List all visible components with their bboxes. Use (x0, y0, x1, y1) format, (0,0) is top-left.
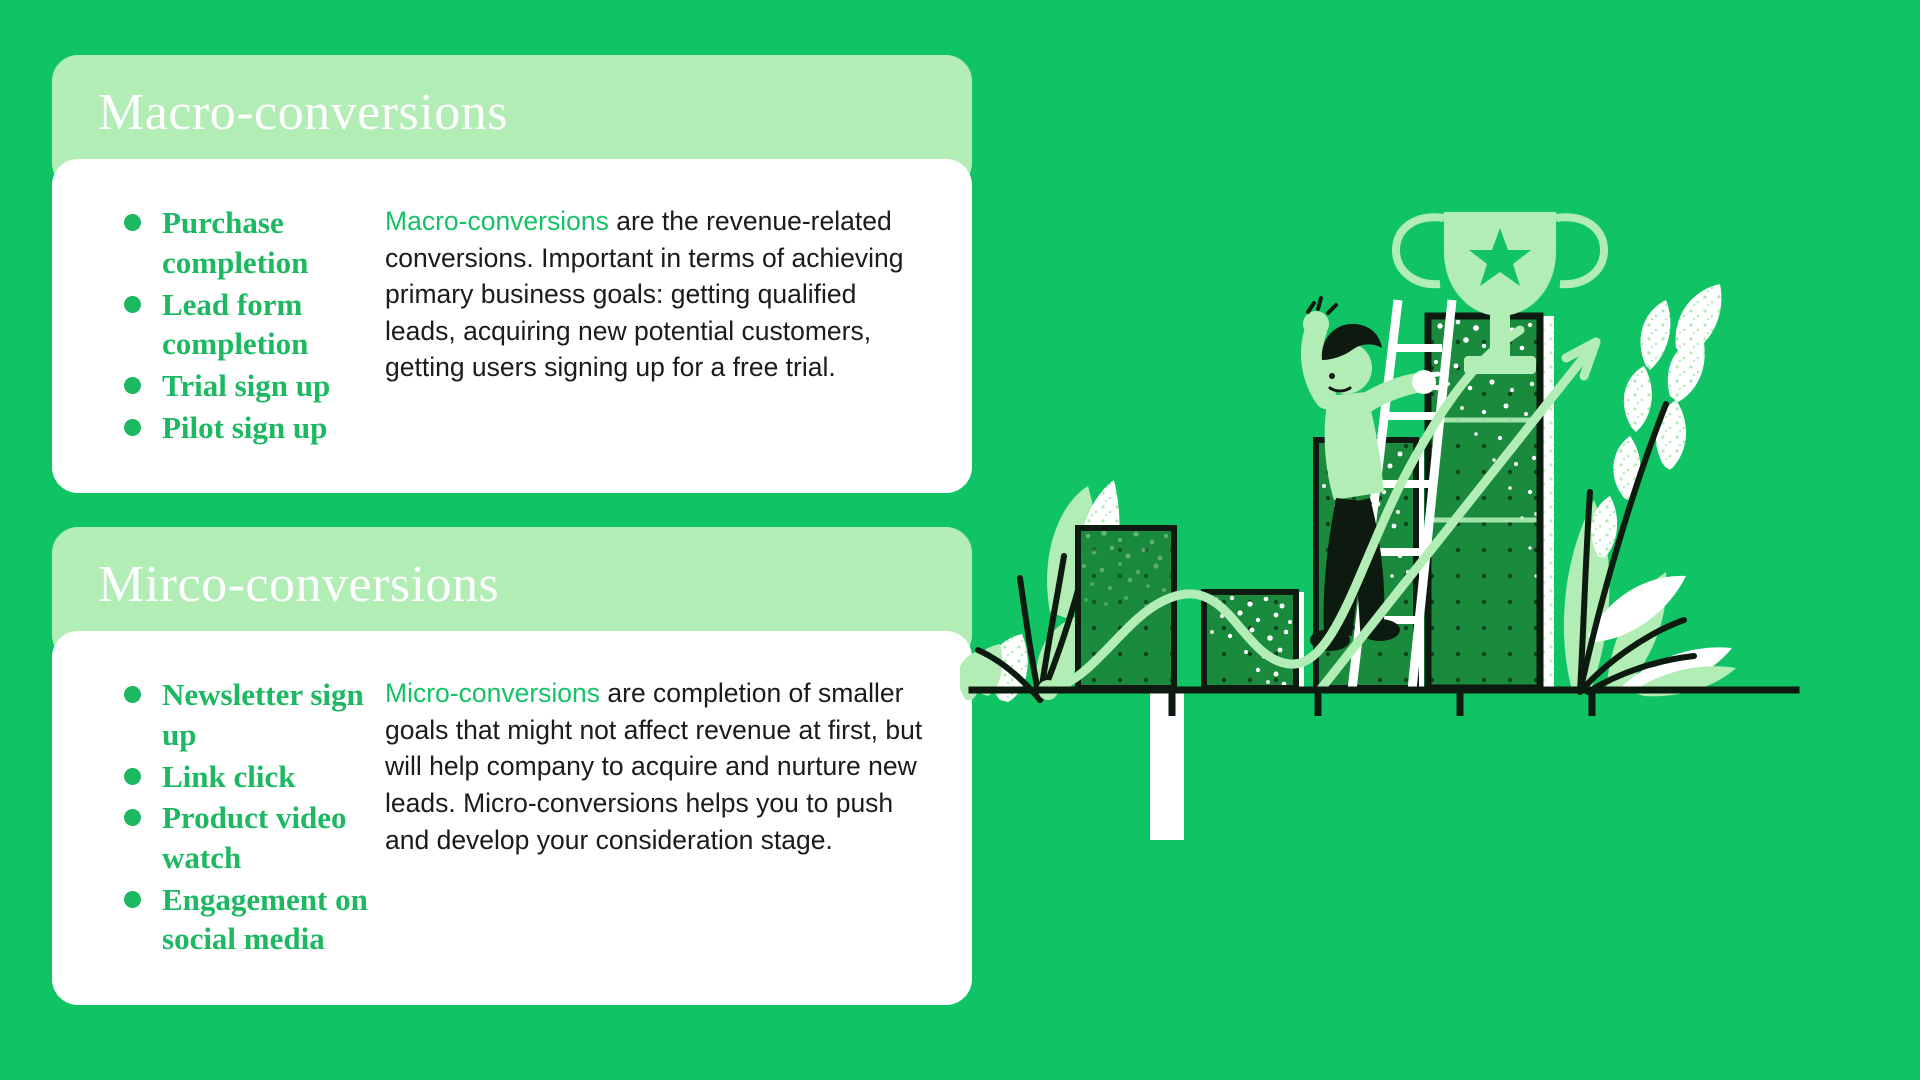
list-item-label: Purchase completion (162, 205, 308, 280)
list-item-label: Lead form completion (162, 287, 308, 362)
highlight-term-macro: Macro-conversions (385, 206, 609, 236)
bullet-column-macro: Purchase completion Lead form completion… (94, 203, 379, 449)
bar-1 (1078, 528, 1184, 840)
bullet-dot-icon (124, 891, 141, 908)
bullet-dot-icon (124, 214, 141, 231)
card-body-macro: Purchase completion Lead form completion… (52, 159, 972, 493)
description-macro: Macro-conversions are the revenue-relate… (385, 203, 930, 386)
list-item-label: Engagement on social media (162, 882, 368, 957)
bullet-dot-icon (124, 377, 141, 394)
bullet-list-micro: Newsletter sign up Link click Product vi… (120, 675, 379, 959)
list-item-label: Pilot sign up (162, 410, 327, 445)
bullet-dot-icon (124, 768, 141, 785)
bullet-dot-icon (124, 296, 141, 313)
bullet-dot-icon (124, 419, 141, 436)
list-item: Lead form completion (120, 285, 379, 364)
bullet-column-micro: Newsletter sign up Link click Product vi… (94, 675, 379, 961)
cards-column: Macro-conversions Purchase completion Le… (52, 55, 972, 1005)
card-macro-conversions: Macro-conversions Purchase completion Le… (52, 55, 972, 493)
card-micro-conversions: Mirco-conversions Newsletter sign up Lin… (52, 527, 972, 1005)
list-item: Pilot sign up (120, 408, 379, 448)
list-item: Product video watch (120, 798, 379, 877)
list-item: Newsletter sign up (120, 675, 379, 754)
card-spacer (52, 493, 972, 527)
list-item-label: Product video watch (162, 800, 347, 875)
list-item: Trial sign up (120, 366, 379, 406)
card-body-micro: Newsletter sign up Link click Product vi… (52, 631, 972, 1005)
list-item: Purchase completion (120, 203, 379, 282)
paragraph-column-macro: Macro-conversions are the revenue-relate… (379, 203, 930, 386)
list-item-label: Link click (162, 759, 296, 794)
highlight-term-micro: Micro-conversions (385, 678, 600, 708)
list-item-label: Newsletter sign up (162, 677, 364, 752)
page-title-micro: Mirco-conversions (98, 557, 926, 613)
paragraph-column-micro: Micro-conversions are completion of smal… (379, 675, 930, 858)
page-title-macro: Macro-conversions (98, 85, 926, 141)
bullet-dot-icon (124, 809, 141, 826)
growth-illustration (960, 0, 1920, 1080)
description-micro: Micro-conversions are completion of smal… (385, 675, 930, 858)
bullet-list-macro: Purchase completion Lead form completion… (120, 203, 379, 447)
list-item-label: Trial sign up (162, 368, 330, 403)
list-item: Link click (120, 757, 379, 797)
bullet-dot-icon (124, 686, 141, 703)
list-item: Engagement on social media (120, 880, 379, 959)
